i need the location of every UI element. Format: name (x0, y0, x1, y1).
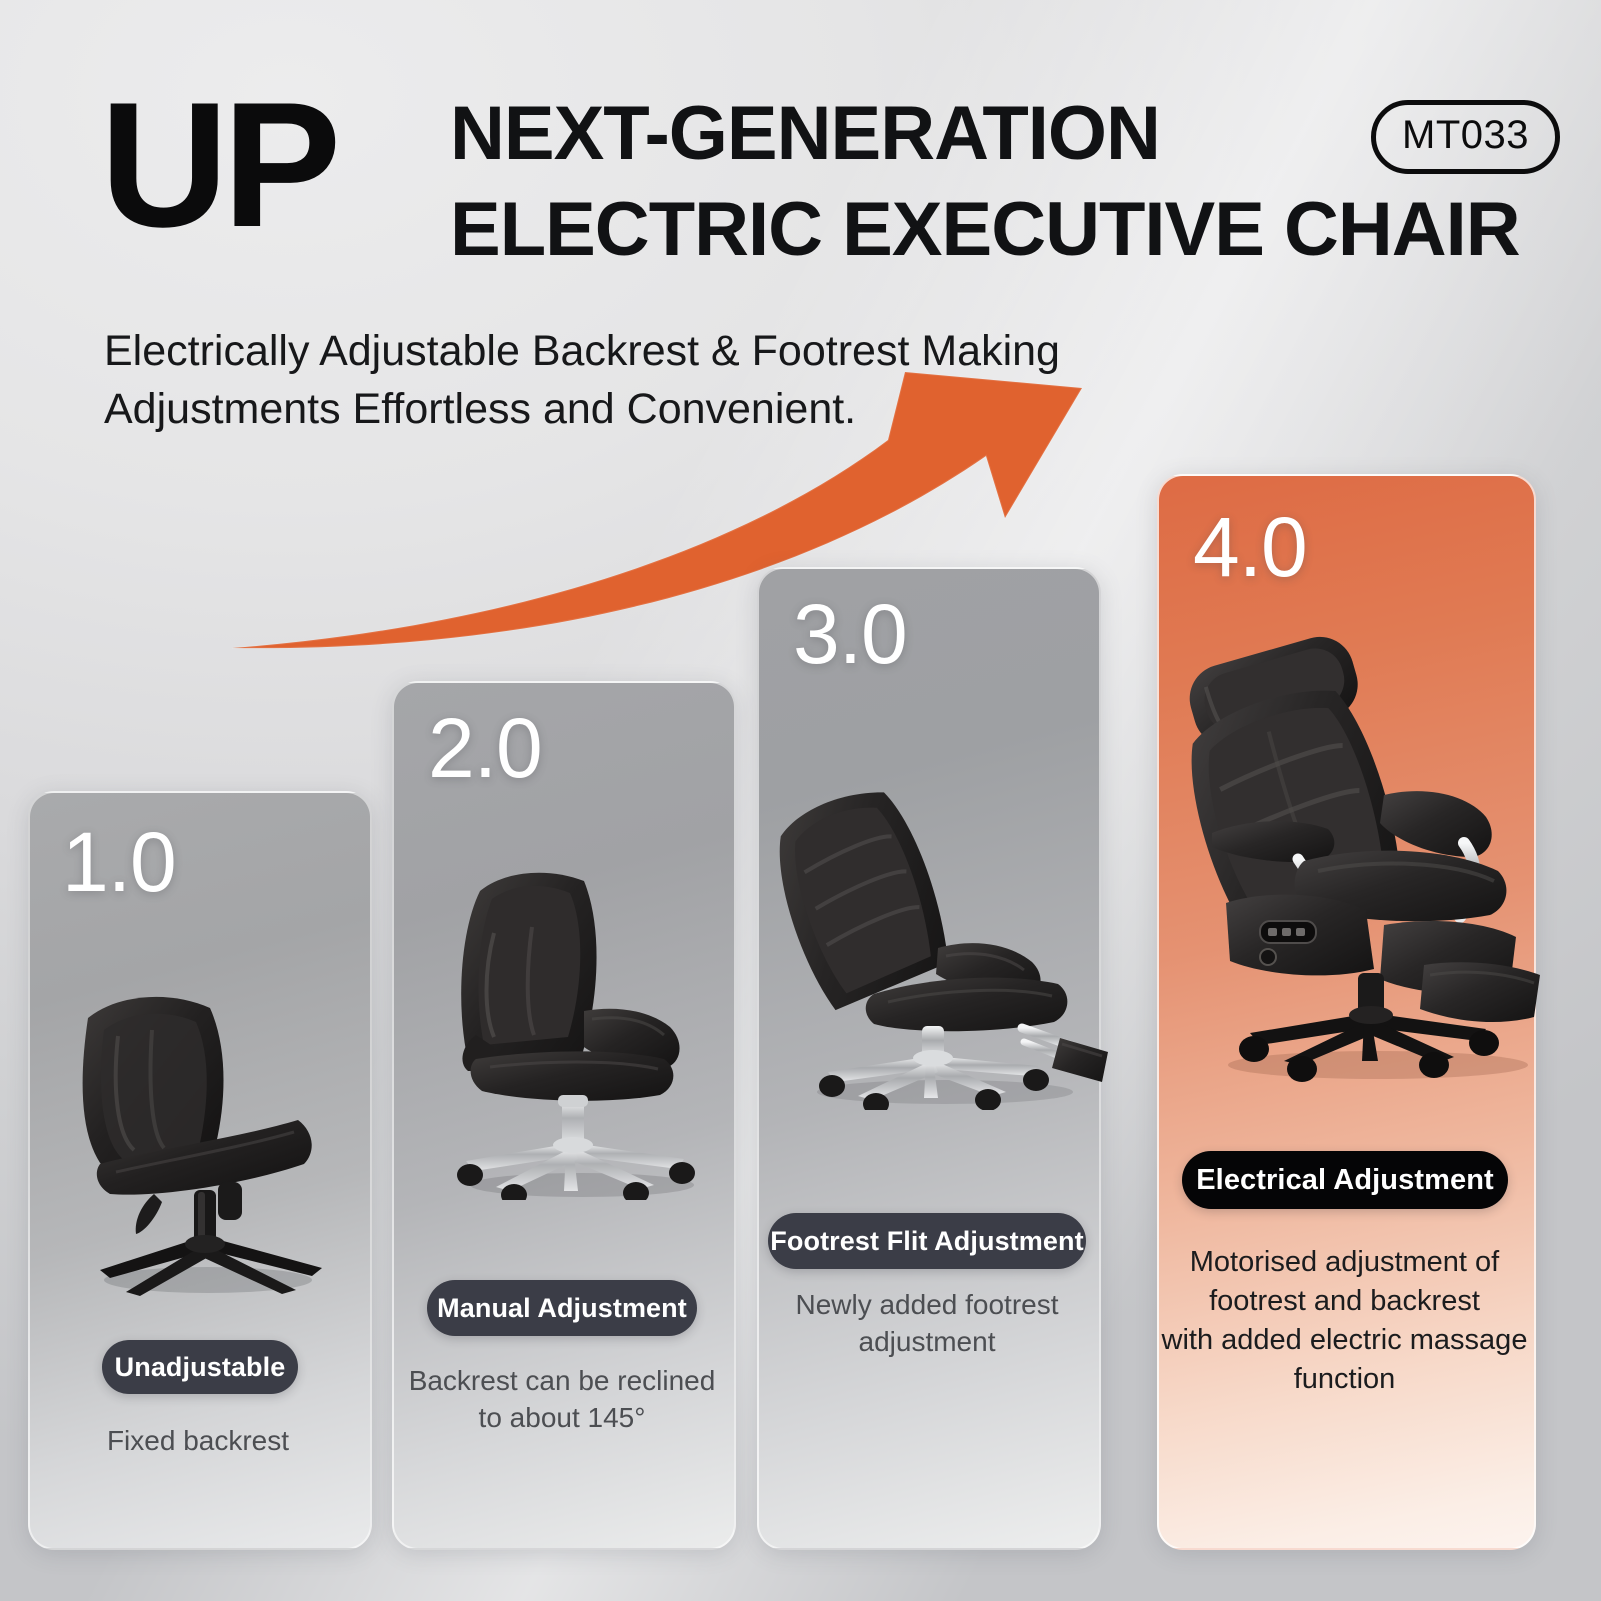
headline-line-2: ELECTRIC EXECUTIVE CHAIR (450, 182, 1510, 278)
caption-v4-line-2: footrest and backrest (1157, 1282, 1532, 1321)
brand-wordmark: UP (100, 76, 335, 254)
chair-v4-electric-massage-icon (1168, 625, 1560, 1085)
caption-v3-line-1: Newly added footrest (757, 1286, 1097, 1323)
caption-v3-line-2: adjustment (757, 1323, 1097, 1360)
headline-line-1: NEXT-GENERATION (450, 91, 1160, 176)
version-label-4: 4.0 (1193, 505, 1307, 589)
caption-v4-line-4: function (1157, 1360, 1532, 1399)
caption-v3: Newly added footrest adjustment (757, 1286, 1097, 1360)
usb-port-icon (1260, 949, 1276, 965)
caption-v4-line-3: with added electric massage (1157, 1321, 1532, 1360)
status-badge-v2: Manual Adjustment (427, 1280, 697, 1336)
model-badge: MT033 (1371, 100, 1560, 174)
header: UP NEXT-GENERATION ELECTRIC EXECUTIVE CH… (0, 0, 1601, 300)
page-title: NEXT-GENERATION ELECTRIC EXECUTIVE CHAIR (450, 86, 1510, 278)
version-label-1: 1.0 (62, 820, 176, 904)
status-badge-v3: Footrest Flit Adjustment (768, 1213, 1086, 1269)
chair-v3-footrest-icon (770, 780, 1110, 1110)
caption-v2-line-2: to about 145° (392, 1399, 732, 1436)
chair-v2-manual-recline-icon (432, 855, 722, 1200)
chair-v1-fixed-backrest-icon (60, 968, 344, 1298)
infographic-poster: UP NEXT-GENERATION ELECTRIC EXECUTIVE CH… (0, 0, 1601, 1601)
status-badge-v4: Electrical Adjustment (1182, 1151, 1508, 1209)
caption-v4-line-1: Motorised adjustment of (1157, 1243, 1532, 1282)
caption-v2-line-1: Backrest can be reclined (392, 1362, 732, 1399)
caption-v1-text: Fixed backrest (28, 1422, 368, 1459)
version-label-2: 2.0 (428, 706, 542, 790)
status-badge-v1-pill: Unadjustable (102, 1340, 298, 1394)
caption-v4: Motorised adjustment of footrest and bac… (1157, 1243, 1532, 1399)
caption-v2: Backrest can be reclined to about 145° (392, 1362, 732, 1436)
version-label-3: 3.0 (793, 592, 907, 676)
